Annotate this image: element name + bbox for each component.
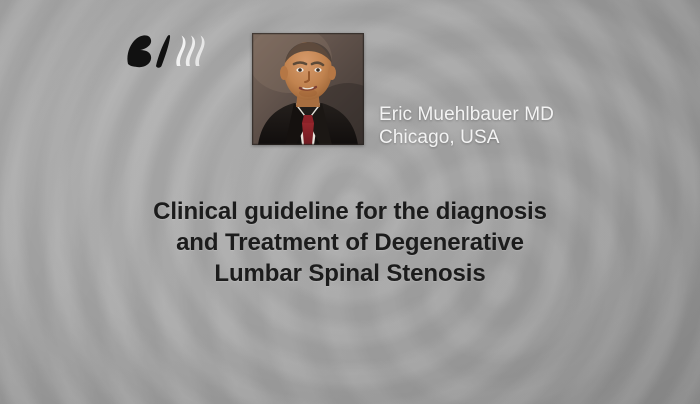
speaker-name: Eric Muehlbauer MD xyxy=(379,103,554,126)
title-line-2: and Treatment of Degenerative xyxy=(0,227,700,258)
logo-letter-i xyxy=(156,35,170,68)
page-title: Clinical guideline for the diagnosis and… xyxy=(0,196,700,289)
logo-wave-1 xyxy=(176,36,185,67)
portrait-brow-left xyxy=(294,63,306,65)
logo-letter-b xyxy=(127,35,151,67)
bi-waves-logo-svg xyxy=(118,26,208,76)
bi-waves-logo xyxy=(118,26,208,76)
portrait-ear-left xyxy=(280,66,288,80)
speaker-location: Chicago, USA xyxy=(379,126,554,149)
portrait-pupil-right xyxy=(316,68,320,72)
portrait-pupil-left xyxy=(298,68,302,72)
title-line-3: Lumbar Spinal Stenosis xyxy=(0,258,700,289)
speaker-portrait xyxy=(252,33,364,145)
portrait-tie-knot xyxy=(302,115,314,123)
portrait-ear-right xyxy=(328,66,336,80)
title-line-1: Clinical guideline for the diagnosis xyxy=(0,196,700,227)
speaker-info: Eric Muehlbauer MD Chicago, USA xyxy=(379,103,554,149)
logo-wave-2 xyxy=(186,36,195,67)
presentation-slide: Eric Muehlbauer MD Chicago, USA Clinical… xyxy=(0,0,700,404)
speaker-portrait-svg xyxy=(252,33,364,145)
logo-wave-3 xyxy=(195,36,204,67)
portrait-chin-shadow xyxy=(299,89,317,97)
